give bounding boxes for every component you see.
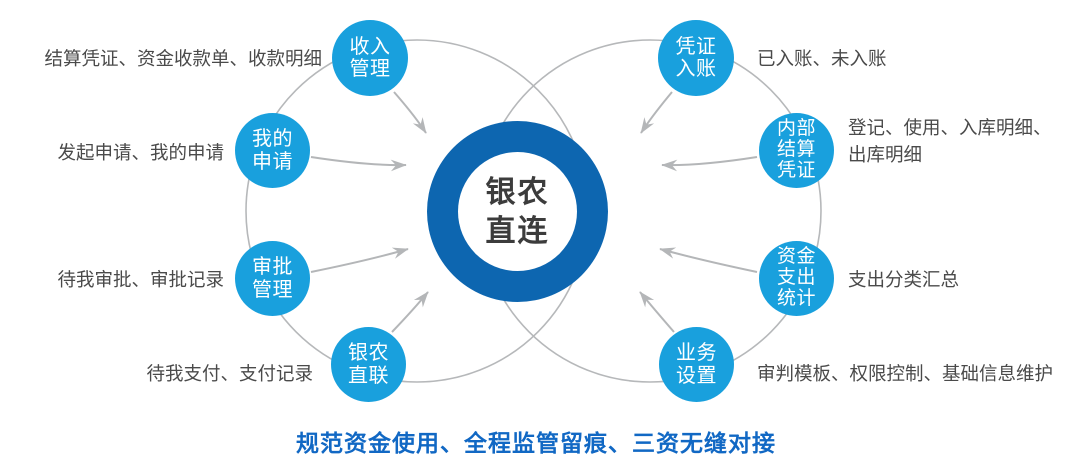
caption-income-management: 结算凭证、资金收款单、收款明细 [0,46,322,73]
footer-slogan: 规范资金使用、全程监管留痕、三资无缝对接 [0,424,1072,458]
arrow-fund-expenditure-statistics [660,249,757,272]
node-my-application-line2: 申请 [252,151,293,173]
node-income-management-line2: 管理 [350,58,391,80]
caption-bank-farm-direct: 待我支付、支付记录 [0,361,313,388]
node-approval-management-line2: 管理 [252,279,293,301]
caption-business-settings: 审判模板、权限控制、基础信息维护 [757,361,1072,388]
node-business-settings[interactable]: 业务 设置 [659,327,734,402]
caption-fund-expenditure-statistics: 支出分类汇总 [848,267,1072,294]
node-bank-farm-direct-line2: 直联 [348,365,389,387]
caption-my-application: 发起申请、我的申请 [0,140,224,167]
node-voucher-entry-line2: 入账 [676,58,717,80]
caption-internal-settlement-voucher-line1: 登记、使用、入库明细、 [848,117,1052,138]
arrow-approval-management [311,249,408,272]
node-fund-expenditure-statistics-line2: 支出 [777,268,816,289]
caption-internal-settlement-voucher-line2: 出库明细 [848,144,922,165]
node-fund-expenditure-statistics[interactable]: 资金 支出 统计 [759,241,834,316]
diagram-canvas: 银农 直连 收入 管理 我的 申请 审批 管理 银农 直联 凭证 入账 内部 结… [0,0,1072,471]
node-income-management[interactable]: 收入 管理 [332,20,408,96]
node-approval-management[interactable]: 审批 管理 [235,241,310,316]
node-income-management-line1: 收入 [350,36,391,58]
node-approval-management-line1: 审批 [252,256,293,278]
node-fund-expenditure-statistics-line3: 统计 [777,289,816,310]
node-my-application-line1: 我的 [252,128,293,150]
node-internal-settlement-voucher-line2: 结算 [777,140,816,161]
hub-ring: 银农 直连 [427,121,608,302]
caption-internal-settlement-voucher: 登记、使用、入库明细、 出库明细 [848,115,1072,169]
node-internal-settlement-voucher-line3: 凭证 [777,161,816,182]
caption-approval-management: 待我审批、审批记录 [0,267,224,294]
caption-voucher-entry: 已入账、未入账 [757,46,1057,73]
node-voucher-entry[interactable]: 凭证 入账 [658,20,734,96]
node-internal-settlement-voucher-line1: 内部 [777,119,816,140]
arrow-business-settings [640,292,674,332]
arrow-voucher-entry [641,92,672,133]
node-voucher-entry-line1: 凭证 [676,36,717,58]
arrow-bank-farm-direct [392,292,428,332]
arrow-income-management [394,92,426,133]
node-internal-settlement-voucher[interactable]: 内部 结算 凭证 [759,113,834,188]
node-fund-expenditure-statistics-line1: 资金 [777,247,816,268]
arrow-my-application [311,157,406,165]
node-my-application[interactable]: 我的 申请 [235,113,310,188]
node-business-settings-line1: 业务 [676,342,717,364]
node-business-settings-line2: 设置 [676,365,717,387]
node-bank-farm-direct-line1: 银农 [348,342,389,364]
hub-label-line2: 直连 [486,212,550,251]
node-bank-farm-direct[interactable]: 银农 直联 [331,327,406,402]
hub-label-line1: 银农 [486,173,550,212]
hub-inner: 银农 直连 [458,152,577,271]
arrow-internal-settlement-voucher [662,157,757,165]
